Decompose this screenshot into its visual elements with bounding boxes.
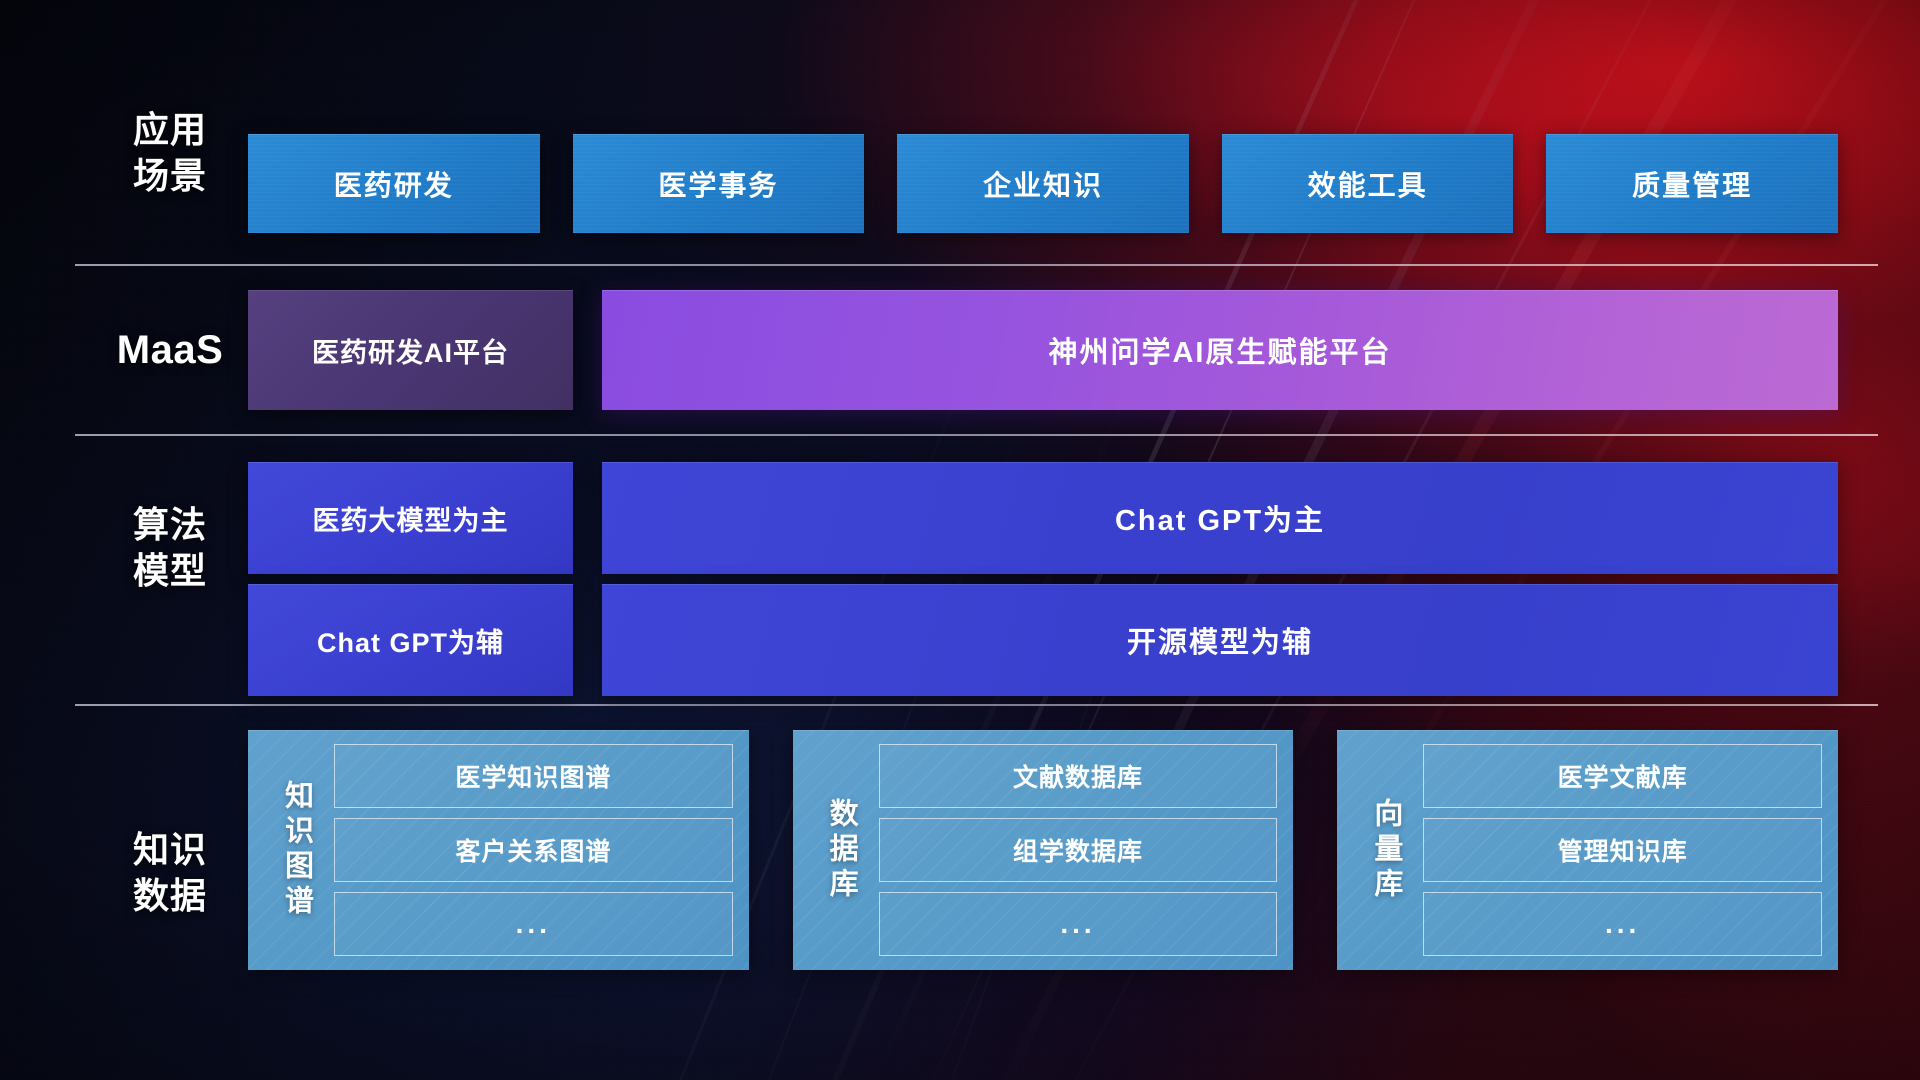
knowledge-item-medical-literature-store[interactable]: 医学文献库 — [1423, 744, 1822, 808]
divider-line-1 — [75, 264, 1878, 266]
divider-line-2 — [75, 434, 1878, 436]
knowledge-item-more-3[interactable]: ... — [1423, 892, 1822, 956]
knowledge-group-label-database: 数据库 — [803, 744, 879, 956]
row-label-algorithm-line2: 模型 — [95, 548, 245, 594]
knowledge-item-customer-relation-graph[interactable]: 客户关系图谱 — [334, 818, 733, 882]
diagram-stage: 应用场景 医药研发 医学事务 企业知识 效能工具 质量管理 MaaS 医药研发A… — [0, 0, 1920, 1080]
maas-native-enablement-platform-banner[interactable]: 神州问学AI原生赋能平台 — [602, 290, 1838, 410]
scenario-box-enterprise-knowledge[interactable]: 企业知识 — [897, 134, 1189, 233]
knowledge-item-management-knowledge-store[interactable]: 管理知识库 — [1423, 818, 1822, 882]
knowledge-group-items: 医学文献库 管理知识库 ... — [1423, 744, 1822, 956]
knowledge-item-literature-database[interactable]: 文献数据库 — [879, 744, 1278, 808]
knowledge-item-omics-database[interactable]: 组学数据库 — [879, 818, 1278, 882]
row-label-knowledge-data: 知识数据 — [95, 827, 245, 919]
algo-box-opensource-secondary[interactable]: 开源模型为辅 — [602, 584, 1838, 696]
divider-line-3 — [75, 704, 1878, 706]
knowledge-group-items: 文献数据库 组学数据库 ... — [879, 744, 1278, 956]
scenario-box-medical-affairs[interactable]: 医学事务 — [573, 134, 865, 233]
knowledge-group-database[interactable]: 数据库 文献数据库 组学数据库 ... — [793, 730, 1294, 970]
scenario-box-pharma-rd[interactable]: 医药研发 — [248, 134, 540, 233]
maas-pharma-ai-platform-box[interactable]: 医药研发AI平台 — [248, 290, 573, 410]
knowledge-group-label-knowledge-graph: 知识图谱 — [258, 744, 334, 956]
scenario-box-efficiency-tools[interactable]: 效能工具 — [1222, 134, 1514, 233]
knowledge-group-items: 医学知识图谱 客户关系图谱 ... — [334, 744, 733, 956]
application-scenario-row: 医药研发 医学事务 企业知识 效能工具 质量管理 — [248, 134, 1838, 233]
row-label-algorithm-model: 算法模型 — [95, 502, 245, 594]
knowledge-item-more-2[interactable]: ... — [879, 892, 1278, 956]
algo-box-pharma-llm-primary[interactable]: 医药大模型为主 — [248, 462, 573, 574]
knowledge-item-more-1[interactable]: ... — [334, 892, 733, 956]
scenario-box-quality-management[interactable]: 质量管理 — [1546, 134, 1838, 233]
row-label-maas: MaaS — [95, 327, 245, 373]
row-label-algorithm-line1: 算法 — [95, 502, 245, 548]
knowledge-group-vector-store[interactable]: 向量库 医学文献库 管理知识库 ... — [1337, 730, 1838, 970]
row-label-application-scenario: 应用场景 — [95, 107, 245, 199]
knowledge-group-knowledge-graph[interactable]: 知识图谱 医学知识图谱 客户关系图谱 ... — [248, 730, 749, 970]
knowledge-item-medical-knowledge-graph[interactable]: 医学知识图谱 — [334, 744, 733, 808]
algo-box-chatgpt-primary[interactable]: Chat GPT为主 — [602, 462, 1838, 574]
knowledge-group-label-vector-store: 向量库 — [1347, 744, 1423, 956]
algo-box-chatgpt-secondary[interactable]: Chat GPT为辅 — [248, 584, 573, 696]
knowledge-data-row: 知识图谱 医学知识图谱 客户关系图谱 ... 数据库 文献数据库 组学数据库 .… — [248, 730, 1838, 970]
